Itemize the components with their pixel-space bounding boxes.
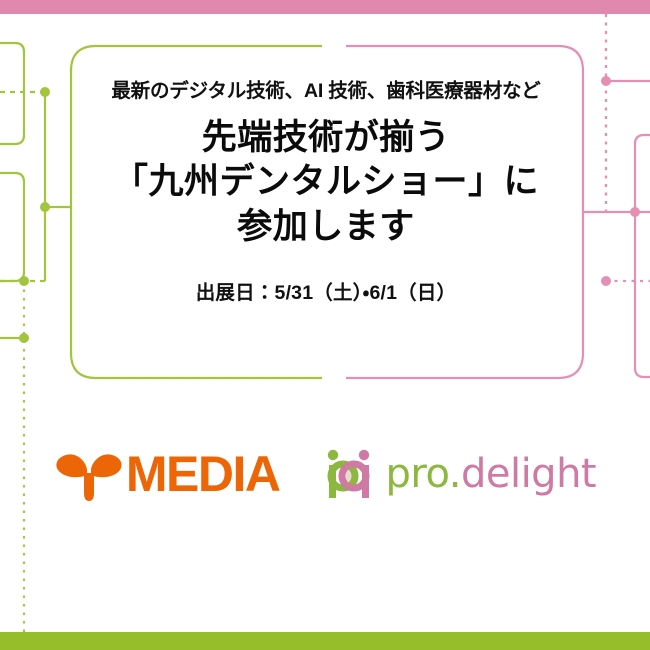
pink-node-3 — [601, 276, 611, 286]
pink-node-2 — [630, 207, 640, 217]
green-rounded-box-top — [0, 43, 24, 144]
kicker-text: 最新のデジタル技術、AI 技術、歯科医療器材など — [111, 82, 540, 102]
green-rounded-box-bottom — [0, 173, 24, 281]
top-accent-bar — [0, 0, 650, 14]
headline: 先端技術が揃う 「九州デンタルショー」に 参加します — [113, 116, 539, 250]
green-node-2 — [40, 202, 50, 212]
logo-row: MEDIA pro.delight — [0, 428, 650, 520]
exhibition-date: 出展日：5/31（土）・6/1（日） — [196, 276, 457, 305]
green-node-4 — [19, 333, 29, 343]
pink-circuit-decoration — [582, 14, 650, 377]
green-circuit-decoration — [0, 43, 72, 632]
sprout-icon — [54, 445, 124, 503]
green-node-3 — [19, 276, 29, 286]
headline-line-1: 先端技術が揃う — [113, 116, 539, 161]
pd-monogram-icon — [324, 446, 378, 502]
banner-canvas: 最新のデジタル技術、AI 技術、歯科医療器材など 先端技術が揃う 「九州デンタル… — [0, 0, 650, 650]
media-logo: MEDIA — [54, 445, 280, 503]
media-wordmark: MEDIA — [126, 449, 280, 499]
pro-delight-logo: pro.delight — [324, 446, 597, 502]
wordmark-delight: delight — [461, 451, 596, 497]
wordmark-pro: pro. — [386, 451, 461, 497]
pink-rounded-box — [635, 135, 650, 377]
pink-circuit-nodes — [601, 76, 640, 286]
pro-delight-wordmark: pro.delight — [386, 454, 597, 494]
card-content: 最新のデジタル技術、AI 技術、歯科医療器材など 先端技術が揃う 「九州デンタル… — [70, 45, 582, 377]
bottom-accent-bar — [0, 632, 650, 650]
green-circuit-nodes — [19, 87, 50, 343]
headline-line-2: 「九州デンタルショー」に — [113, 160, 539, 205]
content-card: 最新のデジタル技術、AI 技術、歯科医療器材など 先端技術が揃う 「九州デンタル… — [70, 45, 582, 377]
pink-node-1 — [601, 76, 611, 86]
headline-line-3: 参加します — [113, 205, 539, 250]
green-node-1 — [40, 87, 50, 97]
